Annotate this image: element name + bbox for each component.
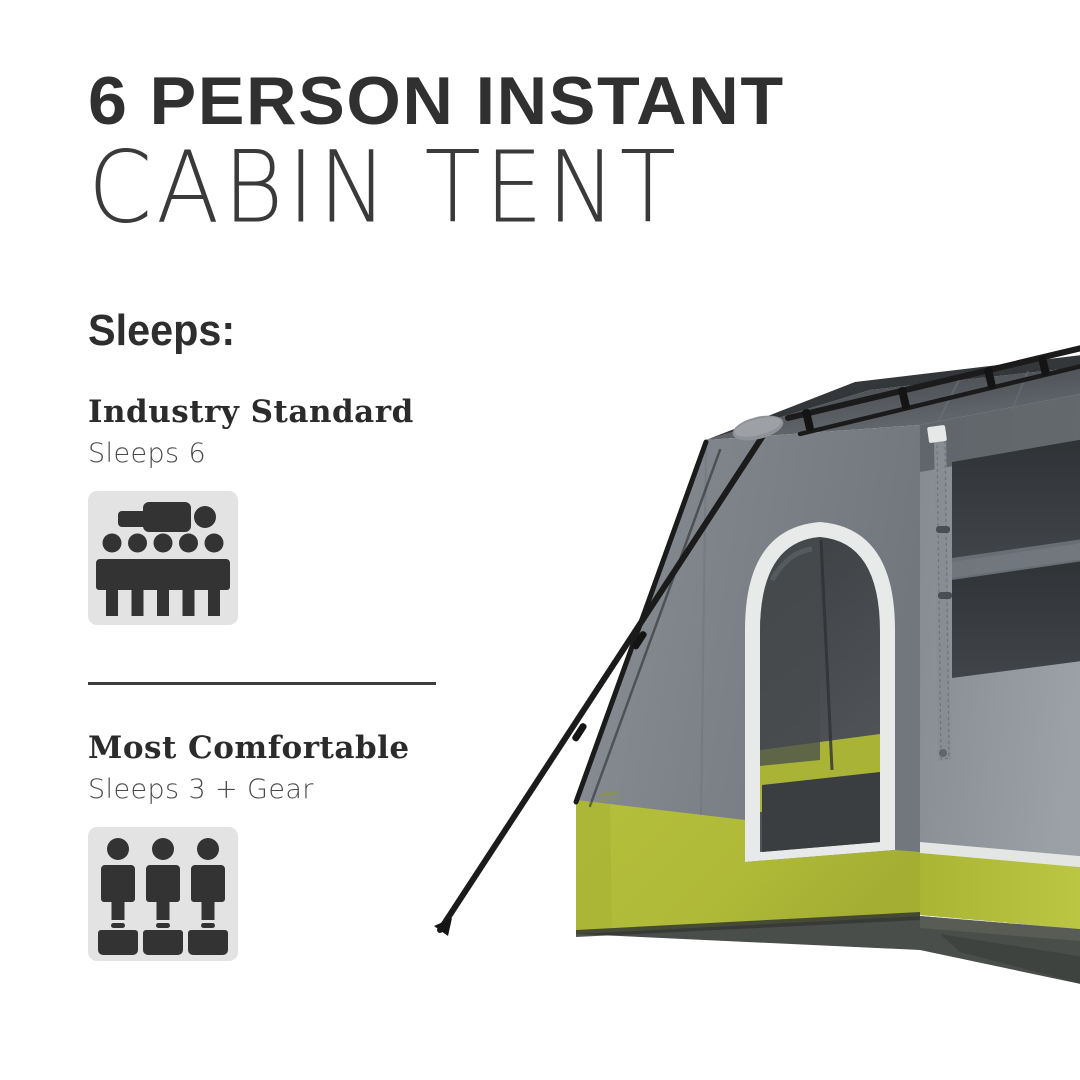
six-people-sleeping-icon-svg — [88, 491, 238, 625]
section-subtitle-industry-standard: Sleeps 6 — [88, 438, 448, 469]
sleeps-section-most-comfortable: Most Comfortable Sleeps 3 + Gear — [88, 730, 448, 961]
lying-person-body — [143, 502, 191, 532]
tent-illustration — [400, 330, 1080, 1030]
side-pull-loop-2 — [938, 592, 952, 599]
gear-bags-group — [98, 923, 228, 955]
section-title-most-comfortable: Most Comfortable — [88, 730, 448, 766]
gear-bag-2 — [143, 923, 183, 955]
standing-person-5 — [198, 534, 230, 617]
tent-door — [745, 522, 895, 862]
title-line-2: CABIN TENT — [88, 136, 918, 240]
standing-person-3 — [191, 838, 225, 920]
side-clip-dot — [939, 749, 947, 757]
lying-person-head — [194, 506, 216, 528]
tent-product-image — [400, 330, 1080, 1030]
standing-person-2 — [146, 838, 180, 920]
door-interior-lower-dark — [762, 772, 880, 852]
three-people-with-gear-icon — [88, 827, 238, 961]
three-people-with-gear-icon-svg — [88, 827, 238, 961]
page-title: 6 PERSON INSTANT CABIN TENT — [88, 64, 918, 232]
standing-person-1 — [101, 838, 135, 920]
green-panel-fold — [576, 800, 612, 934]
lying-person-group — [118, 502, 216, 532]
standing-people-group — [101, 838, 225, 920]
side-pull-loop-1 — [936, 526, 950, 533]
section-divider — [88, 682, 436, 685]
section-subtitle-most-comfortable: Sleeps 3 + Gear — [88, 774, 448, 805]
side-zipper-tab — [927, 425, 947, 443]
gear-bag-1 — [98, 923, 138, 955]
section-title-industry-standard: Industry Standard — [88, 394, 448, 430]
tent-side-wall — [920, 392, 1080, 930]
title-line-1: 6 PERSON INSTANT — [88, 64, 943, 138]
sleeps-section-industry-standard: Industry Standard Sleeps 6 — [88, 394, 448, 625]
six-people-sleeping-icon — [88, 491, 238, 625]
sleeps-heading: Sleeps: — [88, 306, 235, 356]
standing-people-group — [96, 534, 230, 617]
gear-bag-3 — [188, 923, 228, 955]
product-infographic: 6 PERSON INSTANT CABIN TENT Sleeps: Indu… — [0, 0, 1080, 1080]
